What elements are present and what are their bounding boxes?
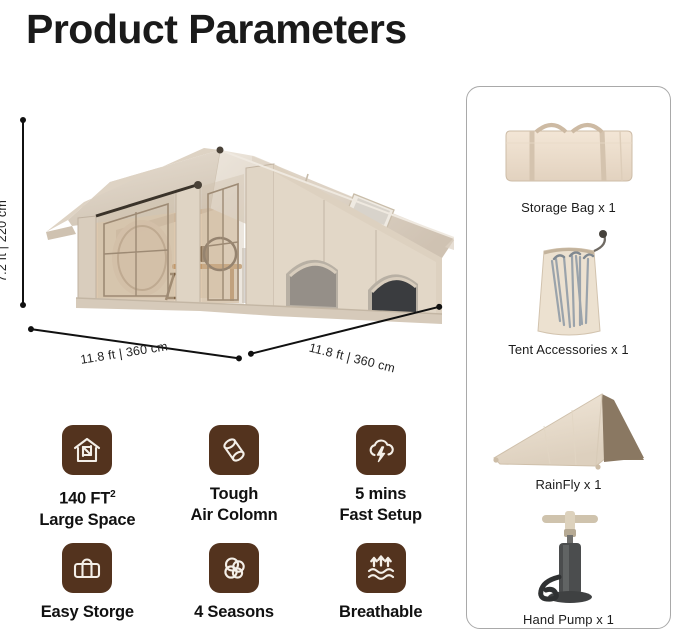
accessory-rainfly: RainFly x 1 xyxy=(467,377,670,492)
feature-label: Easy Storge xyxy=(41,602,134,623)
accessory-label: Hand Pump x 1 xyxy=(523,612,614,627)
feature-large-space: 140 FT2Large Space xyxy=(14,425,161,531)
feature-label: 4 Seasons xyxy=(194,602,274,623)
accessory-storage-bag: Storage Bag x 1 xyxy=(467,105,670,215)
tent-accessories-image xyxy=(514,229,624,337)
accessory-label: Storage Bag x 1 xyxy=(521,200,616,215)
accessory-tent-accessories: Tent Accessories x 1 xyxy=(467,227,670,357)
feature-label: Breathable xyxy=(339,602,422,623)
storage-bag-image xyxy=(494,113,644,195)
air-column-icon xyxy=(209,425,259,475)
accessory-hand-pump: Hand Pump x 1 xyxy=(467,502,670,627)
feature-breathable: Breathable xyxy=(307,543,454,623)
included-accessories-panel: Storage Bag x 1 Tent Accessories x 1 xyxy=(466,86,671,629)
feature-grid: 140 FT2Large Space Tough Air Colomn xyxy=(14,425,454,623)
accessory-label: Tent Accessories x 1 xyxy=(508,342,629,357)
house-expand-icon xyxy=(62,425,112,475)
feature-four-seasons: 4 Seasons xyxy=(161,543,308,623)
feature-easy-storage: Easy Storge xyxy=(14,543,161,623)
width-right-dimension-label: 11.8 ft | 360 cm xyxy=(308,341,397,376)
feature-label: 140 FT2Large Space xyxy=(39,484,135,531)
tent-illustration xyxy=(24,98,454,338)
four-seasons-icon xyxy=(209,543,259,593)
rainfly-image xyxy=(484,386,654,472)
product-diagram-section: 7.2 ft | 220 cm xyxy=(0,70,460,637)
accessory-label: RainFly x 1 xyxy=(535,477,601,492)
feature-label: Tough Air Colomn xyxy=(191,484,278,526)
feature-fast-setup: 5 mins Fast Setup xyxy=(307,425,454,531)
feature-label: 5 mins Fast Setup xyxy=(339,484,421,526)
breathable-icon xyxy=(356,543,406,593)
page-title: Product Parameters xyxy=(26,2,407,56)
duffel-bag-icon xyxy=(62,543,112,593)
cloud-lightning-icon xyxy=(356,425,406,475)
hand-pump-image xyxy=(514,503,624,607)
feature-air-column: Tough Air Colomn xyxy=(161,425,308,531)
